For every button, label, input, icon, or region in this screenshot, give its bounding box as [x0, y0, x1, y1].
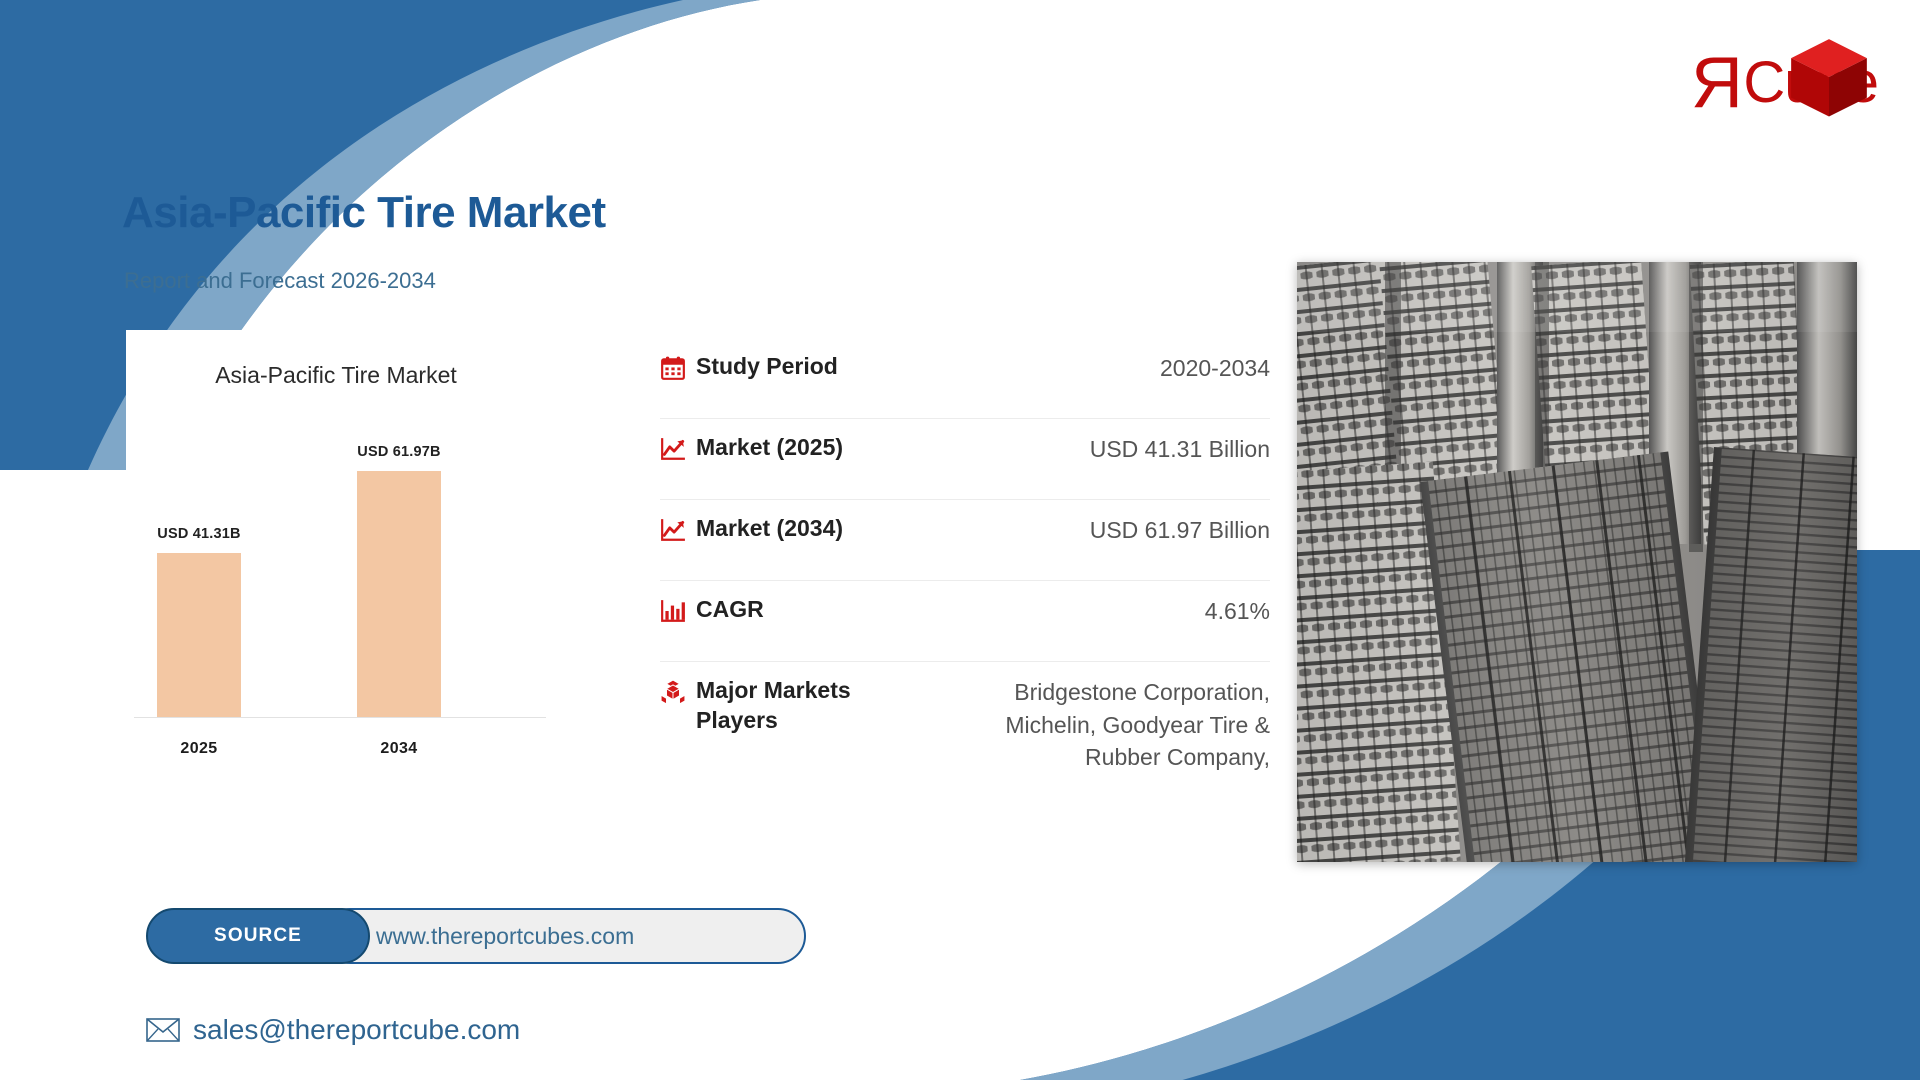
- source-pill-label: SOURCE: [214, 925, 302, 947]
- row-label-cell: Major Markets Players: [660, 676, 928, 736]
- table-row: Market (2034) USD 61.97 Billion: [660, 500, 1270, 581]
- row-label-text: CAGR: [696, 595, 764, 625]
- row-label-text: Market (2025): [696, 433, 843, 463]
- row-label-text: Study Period: [696, 352, 838, 382]
- market-summary-table: Study Period 2020-2034 Market (2025) USD…: [660, 338, 1270, 786]
- bar-data-label: USD 61.97B: [357, 444, 440, 460]
- envelope-icon: [146, 1018, 180, 1042]
- row-value-text: 2020-2034: [1148, 352, 1270, 385]
- cubes-icon: [660, 679, 686, 705]
- table-row: Study Period 2020-2034: [660, 338, 1270, 419]
- cube-3d-icon: [1786, 34, 1872, 120]
- reversed-r-icon: R: [1691, 47, 1743, 119]
- chart-title: Asia-Pacific Tire Market: [126, 362, 546, 389]
- row-label-cell: Market (2025): [660, 433, 843, 463]
- bar-2025: [157, 553, 241, 717]
- market-bar-chart: Asia-Pacific Tire Market USD 41.31B 2025…: [126, 330, 566, 800]
- calendar-icon: [660, 355, 686, 381]
- line-chart-icon: [660, 517, 686, 543]
- row-label-text: Market (2034): [696, 514, 843, 544]
- bar-data-label: USD 41.31B: [157, 526, 240, 542]
- bar-category-label: 2034: [354, 740, 444, 758]
- contact-email-text: sales@thereportcube.com: [193, 1014, 520, 1046]
- infographic-slide: R Cube Asia-Pacific Tire Market Report a…: [0, 0, 1920, 1080]
- bar-category-label: 2025: [154, 740, 244, 758]
- line-chart-icon: [660, 436, 686, 462]
- brand-logo[interactable]: R Cube: [1691, 28, 1878, 138]
- bar-group: USD 61.97B: [354, 444, 444, 717]
- page-title: Asia-Pacific Tire Market: [122, 188, 606, 238]
- page-subtitle: Report and Forecast 2026-2034: [124, 268, 436, 294]
- row-label-cell: Market (2034): [660, 514, 843, 544]
- source-url-capsule[interactable]: www.thereportcubes.com: [322, 908, 806, 964]
- chart-baseline: [134, 717, 546, 718]
- chart-plot-area: USD 41.31B 2025 USD 61.97B 2034: [126, 430, 546, 760]
- row-label-cell: CAGR: [660, 595, 764, 625]
- row-value-text: USD 61.97 Billion: [1078, 514, 1270, 547]
- row-label-cell: Study Period: [660, 352, 838, 382]
- bar-chart-icon: [660, 598, 686, 624]
- contact-email-line[interactable]: sales@thereportcube.com: [146, 1014, 520, 1046]
- table-row: Major Markets Players Bridgestone Corpor…: [660, 662, 1270, 786]
- row-value-text: 4.61%: [1193, 595, 1270, 628]
- source-pill: SOURCE: [146, 908, 370, 964]
- table-row: Market (2025) USD 41.31 Billion: [660, 419, 1270, 500]
- table-row: CAGR 4.61%: [660, 581, 1270, 662]
- source-bar: www.thereportcubes.com SOURCE: [146, 908, 806, 964]
- row-value-text: USD 41.31 Billion: [1078, 433, 1270, 466]
- stacked-tires-photo: [1297, 262, 1857, 862]
- row-label-text: Major Markets Players: [696, 676, 928, 736]
- source-url-text: www.thereportcubes.com: [376, 923, 634, 950]
- bar-group: USD 41.31B: [154, 526, 244, 717]
- bar-2034: [357, 471, 441, 717]
- row-value-text: Bridgestone Corporation, Michelin, Goody…: [928, 676, 1270, 774]
